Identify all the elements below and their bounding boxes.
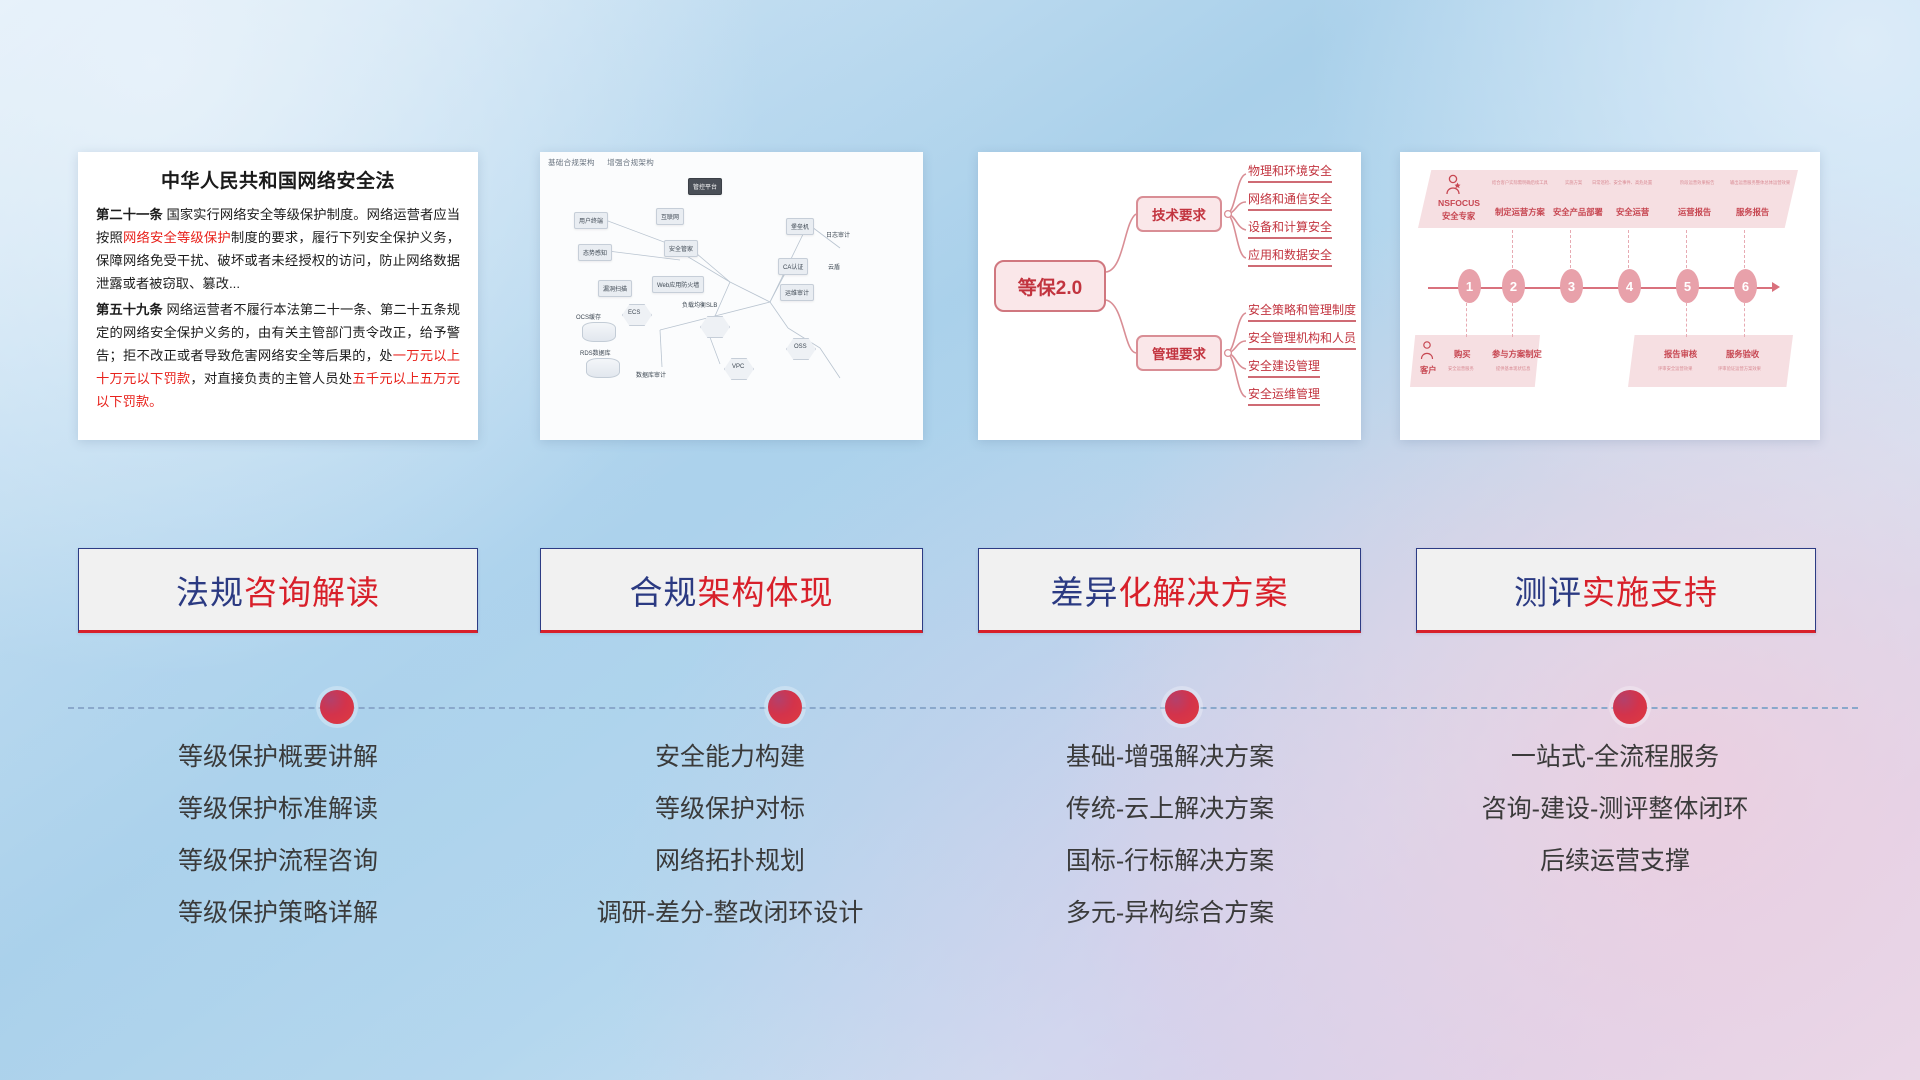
timeline-step-6[interactable]: 6 (1734, 269, 1757, 303)
architecture-label-ocs: OCS缓存 (576, 312, 601, 321)
expert-person-icon (1442, 174, 1464, 196)
architecture-node-steward: 安全管家 (664, 240, 698, 257)
architecture-node-bastion: 堡垒机 (786, 218, 814, 235)
law-article-21-label: 第二十一条 (96, 207, 163, 222)
category-label-1-red: 咨询解读 (244, 574, 380, 611)
bottom-step-3-sub: 评审安全运营效果 (1658, 366, 1692, 372)
detail-list-regulation: 等级保护概要讲解 等级保护标准解读 等级保护流程咨询 等级保护策略详解 (78, 745, 478, 953)
top-step-1-main: 制定运营方案 (1495, 206, 1545, 218)
category-label-regulation-consulting[interactable]: 法规咨询解读 (78, 548, 478, 633)
timeline-connector-5b (1686, 303, 1687, 337)
architecture-shape-rds (586, 358, 620, 378)
top-step-3-main: 安全运营 (1616, 206, 1649, 218)
architecture-label-ecs: ECS (628, 310, 640, 316)
brand-subtitle: 安全专家 (1442, 210, 1475, 222)
timeline-connector-1b (1466, 303, 1467, 337)
architecture-diagram: 基础合规架构 增强合规架构 管控平台 互联网 安全管家 用户终端 (540, 152, 923, 440)
architecture-node-management: 管控平台 (688, 178, 722, 195)
bottom-step-4-sub: 评审验证运营方案效果 (1718, 366, 1761, 372)
mindmap-leaf-app-data: 应用和数据安全 (1248, 246, 1332, 267)
architecture-label-vpc: VPC (732, 364, 744, 370)
architecture-node-situation: 态势感知 (578, 244, 612, 261)
category-label-1-blue: 法规 (176, 574, 244, 611)
bottom-step-2-main: 参与方案制定 (1492, 348, 1542, 360)
category-label-1-text: 法规咨询解读 (176, 566, 380, 614)
category-label-3-text: 差异化解决方案 (1051, 566, 1289, 614)
law-article-59-text2: ，对直接负责的主管人员处 (190, 371, 352, 386)
category-label-differentiated-solution[interactable]: 差异化解决方案 (978, 548, 1361, 633)
law-article-21-highlight: 网络安全等级保护 (123, 230, 231, 245)
category-label-3-red: 化解决方案 (1119, 574, 1289, 611)
timeline-node-1[interactable] (320, 690, 354, 724)
bottom-step-3-main: 报告审核 (1664, 348, 1697, 360)
category-label-4-blue: 测评 (1514, 574, 1582, 611)
top-step-4-main: 运营报告 (1678, 206, 1711, 218)
category-label-2-text: 合规架构体现 (630, 566, 834, 614)
top-step-2-main: 安全产品部署 (1553, 206, 1603, 218)
list-item: 咨询-建设-测评整体闭环 (1400, 797, 1830, 822)
category-label-4-red: 实施支持 (1582, 574, 1718, 611)
timeline-connector-4 (1628, 230, 1629, 268)
law-document: 中华人民共和国网络安全法 第二十一条 国家实行网络安全等级保护制度。网络运营者应… (78, 152, 478, 428)
bottom-step-1-main: 购买 (1454, 348, 1471, 360)
list-item: 等级保护流程咨询 (78, 849, 478, 874)
timeline-connector-5 (1686, 230, 1687, 268)
timeline-arrow-icon (1772, 282, 1780, 292)
list-item: 等级保护策略详解 (78, 901, 478, 926)
category-label-2-red: 架构体现 (698, 574, 834, 611)
timeline-connector-6 (1744, 230, 1745, 268)
preview-cards-row: 中华人民共和国网络安全法 第二十一条 国家实行网络安全等级保护制度。网络运营者应… (0, 152, 1920, 442)
category-label-assessment-support[interactable]: 测评实施支持 (1416, 548, 1816, 633)
mindmap-leaf-construction-mgmt: 安全建设管理 (1248, 357, 1320, 378)
mindmap: 等保2.0 技术要求 物理和环境安全 网络和通信安全 设备和计算安全 应用和数据… (978, 152, 1361, 440)
category-label-3-blue: 差异 (1051, 574, 1119, 611)
detail-list-architecture: 安全能力构建 等级保护对标 网络拓扑规划 调研-差分-整改闭环设计 (520, 745, 940, 953)
list-item: 网络拓扑规划 (520, 849, 940, 874)
list-item: 国标-行标解决方案 (960, 849, 1380, 874)
top-step-5-sub: 输出运营服务整体总体运营效果 (1730, 180, 1790, 186)
detail-lists-row: 等级保护概要讲解 等级保护标准解读 等级保护流程咨询 等级保护策略详解 安全能力… (0, 745, 1920, 975)
list-item: 安全能力构建 (520, 745, 940, 770)
category-label-compliance-architecture[interactable]: 合规架构体现 (540, 548, 923, 633)
architecture-label-slb: 负载均衡SLB (682, 300, 717, 309)
mindmap-leaf-policy-system: 安全策略和管理制度 (1248, 301, 1356, 322)
top-step-4-sub: 阶段运营效果报告 (1680, 180, 1714, 186)
law-article-59: 第五十九条 网络运营者不履行本法第二十一条、第二十五条规定的网络安全保护义务的，… (96, 299, 460, 413)
timeline-step-1[interactable]: 1 (1458, 269, 1481, 303)
customer-label: 客户 (1420, 364, 1437, 376)
architecture-node-vulnscan: 漏洞扫描 (598, 280, 632, 297)
architecture-label-logaudit: 日志审计 (826, 230, 850, 239)
timeline-step-5[interactable]: 5 (1676, 269, 1699, 303)
law-title: 中华人民共和国网络安全法 (96, 166, 460, 193)
list-item: 后续运营支撑 (1400, 849, 1830, 874)
list-item: 传统-云上解决方案 (960, 797, 1380, 822)
timeline-step-4[interactable]: 4 (1618, 269, 1641, 303)
mindmap-branch-management[interactable]: 管理要求 (1136, 335, 1222, 371)
architecture-label-oss: OSS (794, 344, 807, 350)
architecture-node-ca: CA认证 (778, 258, 808, 275)
mindmap-branch-technical[interactable]: 技术要求 (1136, 196, 1222, 232)
category-label-4-text: 测评实施支持 (1514, 566, 1718, 614)
timeline-connector-2b (1512, 303, 1513, 337)
timeline-connector-6b (1744, 303, 1745, 337)
card-cybersecurity-law[interactable]: 中华人民共和国网络安全法 第二十一条 国家实行网络安全等级保护制度。网络运营者应… (78, 152, 478, 440)
mindmap-leaf-ops-mgmt: 安全运维管理 (1248, 385, 1320, 406)
card-dengbao-mindmap[interactable]: 等保2.0 技术要求 物理和环境安全 网络和通信安全 设备和计算安全 应用和数据… (978, 152, 1361, 440)
timeline-step-2[interactable]: 2 (1502, 269, 1525, 303)
category-labels-row: 法规咨询解读 合规架构体现 差异化解决方案 测评实施支持 (0, 548, 1920, 634)
process-timeline (68, 690, 1858, 726)
architecture-shape-ocs (582, 322, 616, 342)
law-article-21: 第二十一条 国家实行网络安全等级保护制度。网络运营者应当按照网络安全等级保护制度… (96, 204, 460, 295)
timeline-node-3[interactable] (1165, 690, 1199, 724)
architecture-label-rds: RDS数据库 (580, 348, 611, 357)
mindmap-leaf-org-personnel: 安全管理机构和人员 (1248, 329, 1356, 350)
architecture-label-dbaudit: 数据库审计 (636, 370, 666, 379)
architecture-node-opsaudit: 运维审计 (780, 284, 814, 301)
mindmap-leaf-physical-env: 物理和环境安全 (1248, 162, 1332, 183)
category-label-2-blue: 合规 (630, 574, 698, 611)
mindmap-leaf-network-comm: 网络和通信安全 (1248, 190, 1332, 211)
timeline-connector-3 (1570, 230, 1571, 268)
list-item: 等级保护对标 (520, 797, 940, 822)
top-step-2-sub: 实施方案 (1565, 180, 1582, 186)
timeline-node-4[interactable] (1613, 690, 1647, 724)
service-timeline: NSFOCUS 安全专家 结合客户实际需明确后续工具 制定运营方案 实施方案 安… (1400, 152, 1820, 440)
timeline-connector-2 (1512, 230, 1513, 268)
mindmap-leaf-device-compute: 设备和计算安全 (1248, 218, 1332, 239)
list-item: 一站式-全流程服务 (1400, 745, 1830, 770)
detail-list-assessment: 一站式-全流程服务 咨询-建设-测评整体闭环 后续运营支撑 (1400, 745, 1830, 901)
detail-list-solution: 基础-增强解决方案 传统-云上解决方案 国标-行标解决方案 多元-异构综合方案 (960, 745, 1380, 953)
bottom-step-4-main: 服务验收 (1726, 348, 1759, 360)
timeline-bottom-right-band (1628, 335, 1793, 387)
list-item: 等级保护概要讲解 (78, 745, 478, 770)
architecture-label-yundun: 云盾 (828, 262, 840, 271)
mindmap-root-node[interactable]: 等保2.0 (994, 260, 1106, 312)
card-compliance-architecture[interactable]: 基础合规架构 增强合规架构 管控平台 互联网 安全管家 用户终端 (540, 152, 923, 440)
bottom-step-1-sub: 安全运营服务 (1448, 366, 1474, 372)
timeline-node-2[interactable] (768, 690, 802, 724)
bottom-step-2-sub: 提供基本现状信息 (1496, 366, 1530, 372)
architecture-node-terminal: 用户终端 (574, 212, 608, 229)
architecture-node-waf: Web应用防火墙 (652, 276, 704, 293)
law-article-59-label: 第五十九条 (96, 302, 163, 317)
customer-person-icon (1418, 340, 1436, 360)
list-item: 基础-增强解决方案 (960, 745, 1380, 770)
top-step-5-main: 服务报告 (1736, 206, 1769, 218)
top-step-1-sub: 结合客户实际需明确后续工具 (1492, 180, 1548, 186)
list-item: 多元-异构综合方案 (960, 901, 1380, 926)
architecture-node-internet: 互联网 (656, 208, 684, 225)
timeline-step-3[interactable]: 3 (1560, 269, 1583, 303)
top-step-3-sub: 日常巡检、安全事件、高危处置 (1592, 180, 1652, 186)
brand-name: NSFOCUS (1438, 198, 1480, 208)
card-service-timeline[interactable]: NSFOCUS 安全专家 结合客户实际需明确后续工具 制定运营方案 实施方案 安… (1400, 152, 1820, 440)
list-item: 调研-差分-整改闭环设计 (520, 901, 940, 926)
list-item: 等级保护标准解读 (78, 797, 478, 822)
